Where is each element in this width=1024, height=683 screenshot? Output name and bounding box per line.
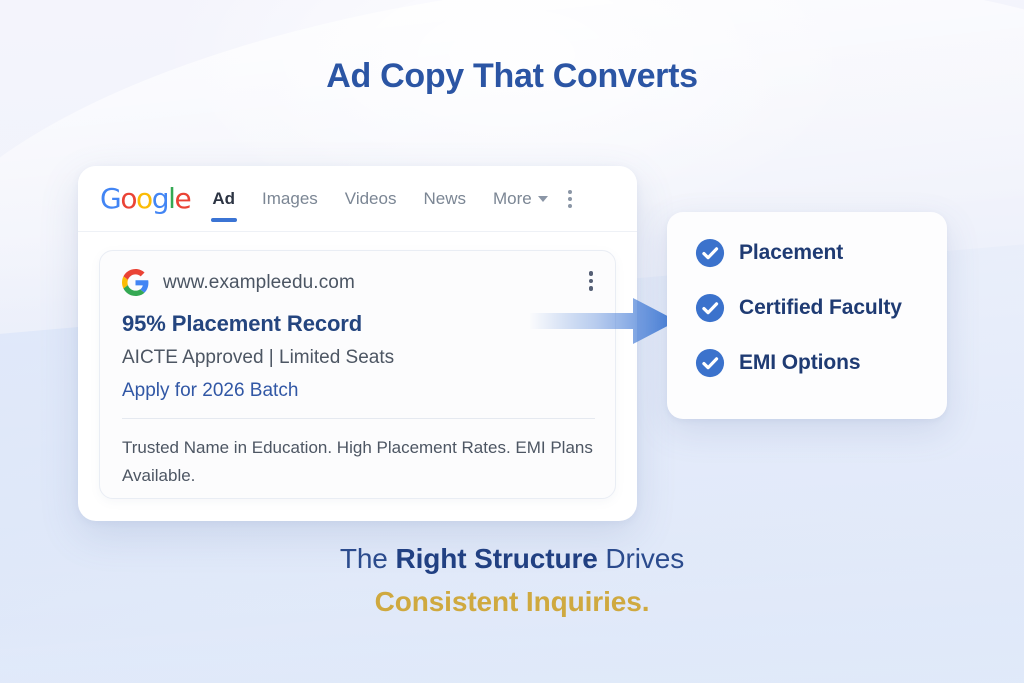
tagline-line-2: Consistent Inquiries. xyxy=(0,586,1024,618)
check-circle-icon xyxy=(695,348,725,378)
google-logo-letter: g xyxy=(152,185,168,213)
google-logo-letter: e xyxy=(175,185,191,213)
nav-tab-videos[interactable]: Videos xyxy=(345,166,397,231)
ad-header-row: www.exampleedu.com xyxy=(122,269,595,296)
checklist-item-label: EMI Options xyxy=(739,351,860,375)
ad-result-card[interactable]: www.exampleedu.com 95% Placement Record … xyxy=(99,250,616,499)
ad-headline[interactable]: 95% Placement Record xyxy=(122,311,595,337)
nav-tab-ad[interactable]: Ad xyxy=(212,166,235,231)
chevron-down-icon xyxy=(538,196,548,202)
nav-tab-images[interactable]: Images xyxy=(262,166,318,231)
google-logo-letter: o xyxy=(120,185,136,213)
google-logo-letter: o xyxy=(136,185,152,213)
nav-tab-more[interactable]: More xyxy=(493,166,548,231)
nav-tab-label: More xyxy=(493,189,532,209)
tagline-suffix: Drives xyxy=(598,543,684,574)
nav-tab-label: News xyxy=(423,189,466,209)
check-circle-icon xyxy=(695,238,725,268)
ad-display-url[interactable]: www.exampleedu.com xyxy=(163,272,355,294)
benefits-checklist-panel: PlacementCertified FacultyEMI Options xyxy=(667,212,947,419)
nav-tab-label: Videos xyxy=(345,189,397,209)
nav-tab-label: Images xyxy=(262,189,318,209)
nav-tab-news[interactable]: News xyxy=(423,166,466,231)
serp-nav-bar: Google AdImagesVideosNewsMore xyxy=(78,166,637,232)
right-arrow-icon xyxy=(529,296,677,346)
tagline-prefix: The xyxy=(340,543,396,574)
checklist-item: Placement xyxy=(695,238,925,268)
ad-sitelink[interactable]: Apply for 2026 Batch xyxy=(122,380,595,402)
google-logo: Google xyxy=(100,185,190,213)
ad-subheadline: AICTE Approved | Limited Seats xyxy=(122,347,595,369)
checklist-item: EMI Options xyxy=(695,348,925,378)
google-g-favicon-icon xyxy=(122,269,149,296)
tagline: The Right Structure Drives Consistent In… xyxy=(0,543,1024,618)
nav-tab-label: Ad xyxy=(212,189,235,209)
checklist-item-label: Placement xyxy=(739,241,843,265)
page-title: Ad Copy That Converts xyxy=(0,57,1024,96)
google-logo-letter: G xyxy=(100,185,120,213)
checklist-item-label: Certified Faculty xyxy=(739,296,902,320)
serp-overflow-menu-icon[interactable] xyxy=(568,190,572,208)
tagline-line-1: The Right Structure Drives xyxy=(0,543,1024,575)
checklist-item: Certified Faculty xyxy=(695,293,925,323)
check-circle-icon xyxy=(695,293,725,323)
ad-divider xyxy=(122,418,595,419)
serp-nav-tabs: AdImagesVideosNewsMore xyxy=(212,166,547,231)
ad-options-menu-icon[interactable] xyxy=(589,271,594,291)
ad-description: Trusted Name in Education. High Placemen… xyxy=(122,434,595,489)
tagline-emphasis: Right Structure xyxy=(395,543,597,574)
